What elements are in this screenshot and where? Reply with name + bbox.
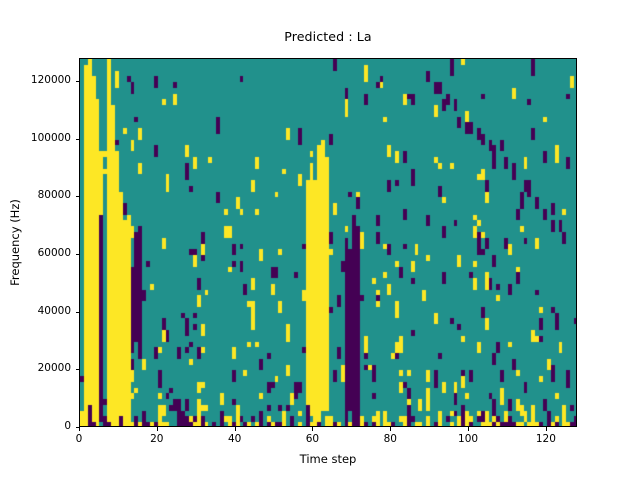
y-tick-mark — [76, 427, 80, 428]
x-tick-label: 0 — [76, 433, 83, 445]
x-tick-mark — [235, 427, 236, 431]
x-tick-mark — [312, 427, 313, 431]
y-tick-mark — [76, 369, 80, 370]
x-axis-label: Time step — [79, 452, 577, 466]
chart-title: Predicted : La — [0, 29, 640, 44]
chart-title-text: Predicted : La — [284, 29, 372, 44]
figure-canvas: Predicted : La 020406080100120 020000400… — [0, 0, 640, 480]
x-tick-label: 120 — [536, 433, 556, 445]
x-tick-mark — [390, 427, 391, 431]
x-tick-label: 100 — [458, 433, 478, 445]
x-tick-mark — [79, 427, 80, 431]
y-tick-mark — [76, 139, 80, 140]
y-axis-label: Frequency (Hz) — [8, 58, 22, 427]
x-tick-mark — [546, 427, 547, 431]
x-tick-mark — [157, 427, 158, 431]
x-tick-label: 60 — [306, 433, 319, 445]
x-tick-label: 40 — [228, 433, 241, 445]
heatmap-image — [80, 59, 577, 427]
y-tick-mark — [76, 196, 80, 197]
y-tick-mark — [76, 312, 80, 313]
x-tick-label: 20 — [150, 433, 163, 445]
x-tick-label: 80 — [384, 433, 397, 445]
x-tick-mark — [468, 427, 469, 431]
y-tick-mark — [76, 254, 80, 255]
y-tick-mark — [76, 81, 80, 82]
heatmap-axes — [79, 58, 577, 427]
